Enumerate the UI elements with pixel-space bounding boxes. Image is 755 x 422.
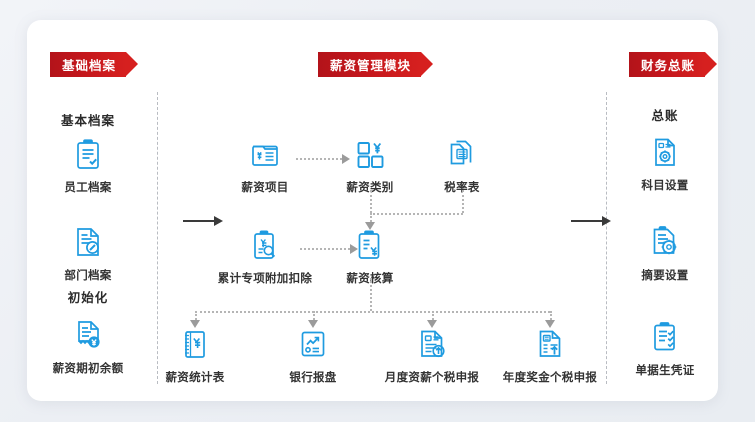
- clipboard-yen-icon: [353, 228, 387, 262]
- clipboard-gear-icon: [648, 225, 682, 259]
- banner-finance-ledger-label: 财务总账: [641, 55, 695, 74]
- node-employee-archive[interactable]: 员工档案: [28, 137, 148, 195]
- group-heading-initialization: 初始化: [18, 287, 158, 306]
- connector-bus-drop-1: [195, 311, 197, 320]
- folder-yen-list-icon: [248, 137, 282, 171]
- node-payroll-statistics-report[interactable]: 薪资统计表: [135, 327, 255, 385]
- node-employee-archive-label: 员工档案: [64, 179, 111, 195]
- node-department-archive[interactable]: 部门档案: [28, 225, 148, 283]
- connector-bus-to-payroll-calc: [370, 213, 372, 222]
- clipboard-check-icon: [71, 137, 105, 171]
- node-bank-offer[interactable]: 银行报盘: [253, 327, 373, 385]
- document-tax-arrow-icon: [533, 327, 567, 361]
- document-tax-stack-icon: [445, 137, 479, 171]
- node-document-to-voucher[interactable]: 单据生凭证: [605, 320, 725, 378]
- node-annual-bonus-tax-declaration[interactable]: 年度奖金个税申报: [490, 327, 610, 385]
- node-annual-bonus-tax-declaration-label: 年度奖金个税申报: [503, 369, 597, 385]
- document-edit-icon: [71, 225, 105, 259]
- node-monthly-salary-tax-declaration[interactable]: 月度资薪个税申报: [372, 327, 492, 385]
- clipboard-checklist-icon: [648, 320, 682, 354]
- node-payroll-opening-balance[interactable]: 薪资期初余额: [28, 318, 148, 376]
- connector-tax-down: [462, 190, 464, 213]
- banner-payroll-module: 薪资管理模块: [318, 52, 421, 77]
- arrow-shaft: [183, 220, 214, 222]
- node-cumulative-special-deduction[interactable]: 累计专项附加扣除: [205, 228, 325, 286]
- node-bank-offer-label: 银行报盘: [289, 369, 336, 385]
- connector-arrowhead-icon: [350, 244, 358, 254]
- banner-payroll-module-label: 薪资管理模块: [330, 55, 411, 74]
- arrow-head-icon: [214, 216, 223, 226]
- banner-basic-archive-label: 基础档案: [62, 55, 116, 74]
- document-yen-icon: [71, 318, 105, 352]
- node-account-setting[interactable]: 科目设置: [605, 135, 725, 193]
- arrow-basic-to-payroll: [183, 216, 223, 226]
- document-gear-icon: [648, 135, 682, 169]
- node-cumulative-special-deduction-label: 累计专项附加扣除: [218, 270, 312, 286]
- node-tax-rate-table[interactable]: 税率表: [402, 137, 522, 195]
- node-document-to-voucher-label: 单据生凭证: [636, 362, 695, 378]
- connector-bus-drop-2: [313, 311, 315, 320]
- connector-deduction-to-accounting: [300, 248, 350, 250]
- notebook-yen-icon: [178, 327, 212, 361]
- grid-yen-icon: [353, 137, 387, 171]
- connector-bus-drop-3: [432, 311, 434, 320]
- connector-fanout-bus: [195, 311, 550, 313]
- clipboard-yen-search-icon: [248, 228, 282, 262]
- node-department-archive-label: 部门档案: [64, 267, 111, 283]
- chart-report-icon: [296, 327, 330, 361]
- node-payroll-item[interactable]: 薪资项目: [205, 137, 325, 195]
- node-summary-setting-label: 摘要设置: [641, 267, 688, 283]
- node-payroll-statistics-report-label: 薪资统计表: [166, 369, 225, 385]
- node-payroll-opening-balance-label: 薪资期初余额: [53, 360, 124, 376]
- diagram-canvas: 基础档案 薪资管理模块 财务总账 基本档案 员工档案: [0, 0, 755, 422]
- connector-accounting-trunk: [370, 278, 372, 311]
- connector-row1-bus: [370, 213, 463, 215]
- document-upload-icon: [415, 327, 449, 361]
- node-payroll-item-label: 薪资项目: [241, 179, 288, 195]
- connector-bus-drop-4: [550, 311, 552, 320]
- group-heading-basic-archive: 基本档案: [18, 110, 158, 129]
- node-account-setting-label: 科目设置: [641, 177, 688, 193]
- group-heading-general-ledger: 总账: [595, 105, 735, 124]
- connector-arrowhead-icon: [342, 154, 350, 164]
- connector-item-to-category: [296, 158, 342, 160]
- banner-finance-ledger: 财务总账: [629, 52, 705, 77]
- node-monthly-salary-tax-declaration-label: 月度资薪个税申报: [385, 369, 479, 385]
- banner-basic-archive: 基础档案: [50, 52, 126, 77]
- node-summary-setting[interactable]: 摘要设置: [605, 225, 725, 283]
- connector-category-down: [370, 190, 372, 213]
- arrow-shaft: [571, 220, 602, 222]
